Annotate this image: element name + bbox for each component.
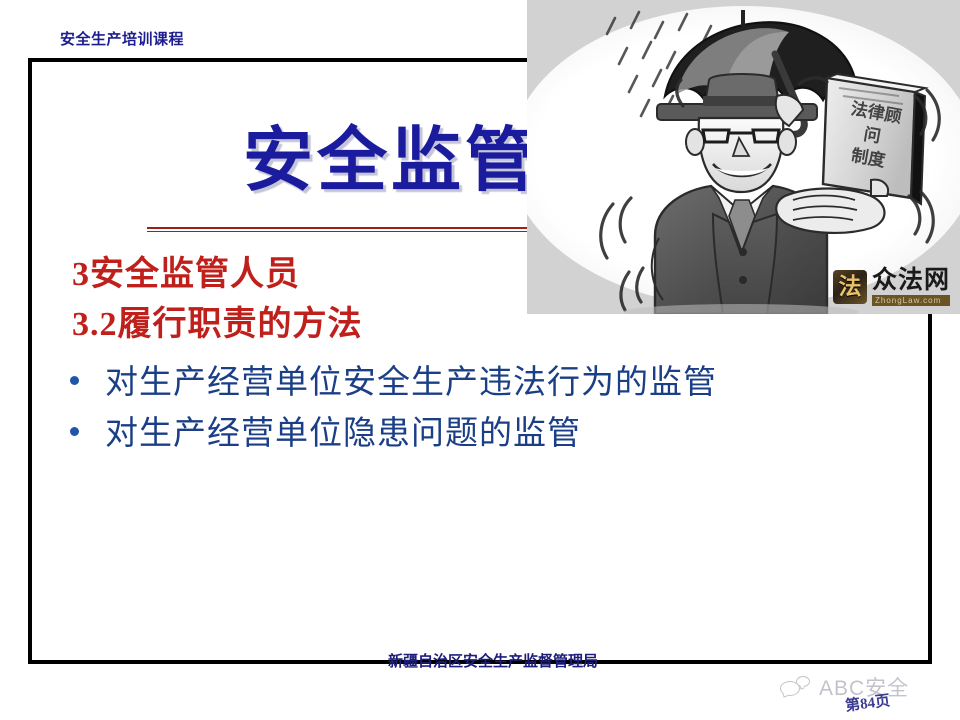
logo-name-en: ZhongLaw.com xyxy=(872,295,950,306)
section-heading-3: 3安全监管人员 xyxy=(72,246,300,295)
watermark-label: ABC安全 xyxy=(819,672,909,702)
footer-rule-left xyxy=(300,660,346,664)
wechat-watermark: ABC安全 xyxy=(780,672,909,702)
source-logo: 法 众法网 ZhongLaw.com xyxy=(833,268,950,306)
course-kicker: 安全生产培训课程 xyxy=(60,28,184,49)
book-cover-title: 法律顾问 制度 xyxy=(834,97,911,176)
list-item: 对生产经营单位隐患问题的监管 xyxy=(70,406,581,454)
cartoon-illustration: 法律顾问 制度 法 众法网 ZhongLaw.com xyxy=(527,0,960,314)
logo-name-cn: 众法网 xyxy=(872,268,950,293)
wechat-bubbles-icon xyxy=(780,676,812,698)
footer-organization: 新疆自治区安全生产监督管理局 xyxy=(350,650,636,671)
page-title: 安全监管 xyxy=(243,104,539,205)
presentation-slide: 安全生产培训课程 安全监管 3安全监管人员 3.2履行职责的方法 对生产经营单位… xyxy=(0,0,960,720)
list-item-label: 对生产经营单位隐患问题的监管 xyxy=(105,406,581,454)
bullet-dot-icon xyxy=(70,376,79,385)
law-badge-icon: 法 xyxy=(833,270,867,304)
footer-rule-right xyxy=(640,660,898,664)
bullet-dot-icon xyxy=(70,427,79,436)
list-item: 对生产经营单位安全生产违法行为的监管 xyxy=(70,355,717,403)
section-heading-3-2: 3.2履行职责的方法 xyxy=(72,296,363,345)
list-item-label: 对生产经营单位安全生产违法行为的监管 xyxy=(105,355,717,403)
